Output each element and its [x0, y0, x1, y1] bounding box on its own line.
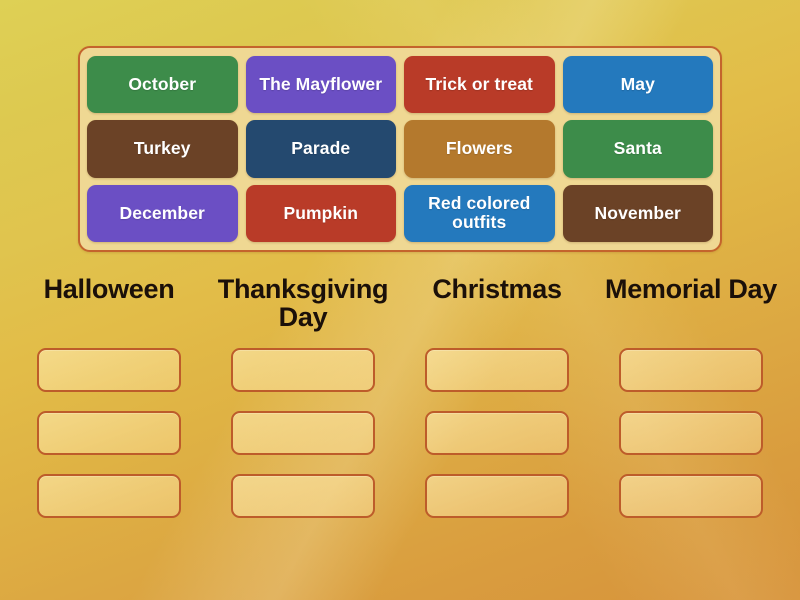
category-title: Christmas [404, 276, 590, 342]
drop-slot-list [598, 348, 784, 518]
drop-slot[interactable] [37, 474, 181, 518]
draggable-tile[interactable]: November [563, 185, 714, 242]
drop-slot-list [210, 348, 396, 518]
drop-slot[interactable] [619, 474, 763, 518]
drop-slot[interactable] [425, 411, 569, 455]
drop-slot-list [404, 348, 590, 518]
draggable-tile[interactable]: Red colored outfits [404, 185, 555, 242]
draggable-tile[interactable]: December [87, 185, 238, 242]
drop-slot[interactable] [37, 411, 181, 455]
drop-slot[interactable] [231, 348, 375, 392]
draggable-tile[interactable]: Santa [563, 120, 714, 177]
draggable-tile[interactable]: October [87, 56, 238, 113]
draggable-tile[interactable]: Turkey [87, 120, 238, 177]
draggable-tile[interactable]: Parade [246, 120, 397, 177]
drop-slot[interactable] [231, 411, 375, 455]
tile-grid: OctoberThe MayflowerTrick or treatMayTur… [87, 56, 713, 242]
draggable-tile[interactable]: Trick or treat [404, 56, 555, 113]
drop-slot[interactable] [425, 348, 569, 392]
activity-stage: OctoberThe MayflowerTrick or treatMayTur… [0, 0, 800, 600]
draggable-tile[interactable]: May [563, 56, 714, 113]
draggable-tile[interactable]: The Mayflower [246, 56, 397, 113]
category-title: Halloween [16, 276, 202, 342]
drop-slot[interactable] [619, 348, 763, 392]
drop-slot[interactable] [231, 474, 375, 518]
category-column: Christmas [404, 276, 590, 518]
category-title: Thanksgiving Day [210, 276, 396, 342]
drop-slot-list [16, 348, 202, 518]
draggable-tile[interactable]: Pumpkin [246, 185, 397, 242]
category-column: Memorial Day [598, 276, 784, 518]
draggable-tile[interactable]: Flowers [404, 120, 555, 177]
drop-slot[interactable] [425, 474, 569, 518]
category-column: Halloween [16, 276, 202, 518]
tile-tray: OctoberThe MayflowerTrick or treatMayTur… [78, 46, 722, 252]
drop-slot[interactable] [619, 411, 763, 455]
category-title: Memorial Day [598, 276, 784, 342]
drop-slot[interactable] [37, 348, 181, 392]
category-column: Thanksgiving Day [210, 276, 396, 518]
